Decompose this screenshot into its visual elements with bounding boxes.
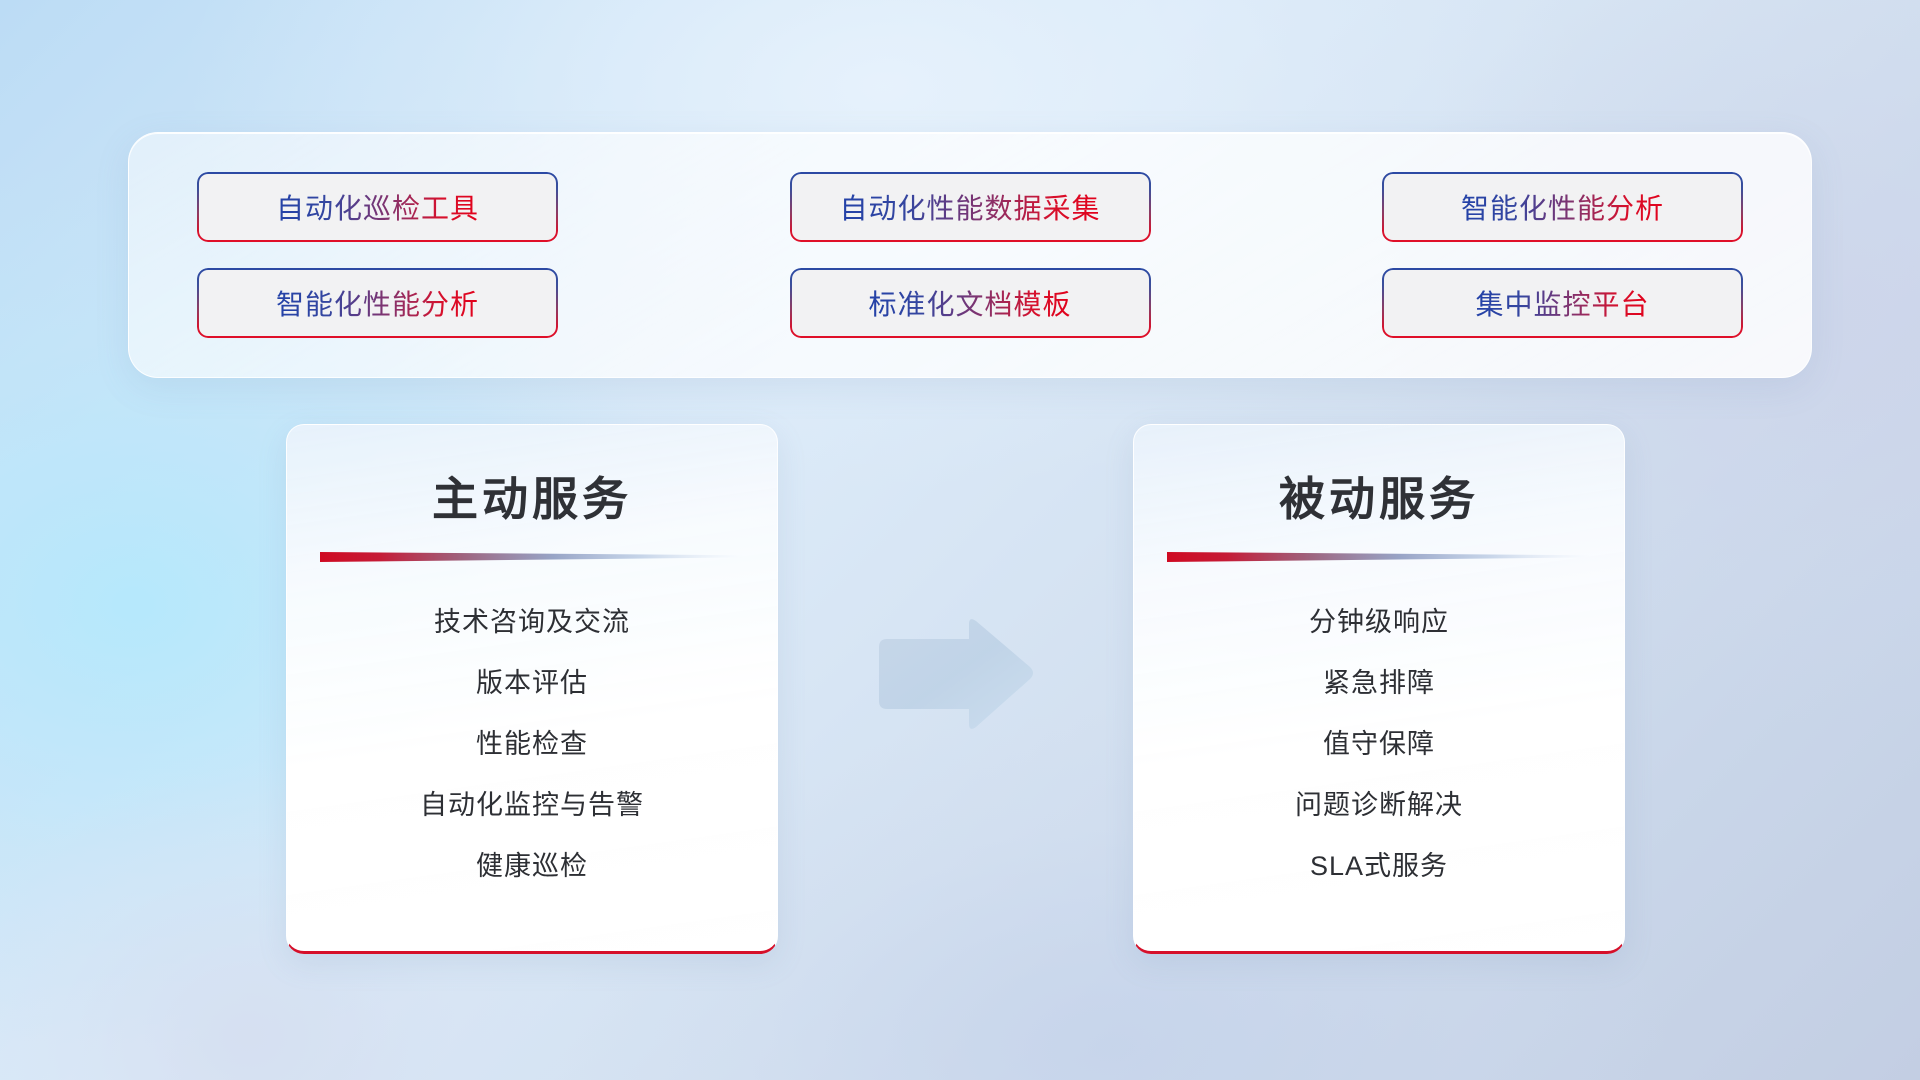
capability-tag-label: 智能化性能分析 xyxy=(1461,187,1664,227)
capability-tag-label: 标准化文档模板 xyxy=(868,283,1071,323)
capability-tag-label: 自动化巡检工具 xyxy=(276,187,479,227)
card-list-item: 问题诊断解决 xyxy=(1134,775,1624,836)
capability-tag-intelligent-performance-analysis-top[interactable]: 智能化性能分析 xyxy=(1384,174,1741,240)
card-title-divider xyxy=(320,551,744,562)
capability-tag-label: 自动化性能数据采集 xyxy=(839,187,1100,227)
capability-tag-automated-performance-data-collection[interactable]: 自动化性能数据采集 xyxy=(792,174,1149,240)
card-list-item: 技术咨询及交流 xyxy=(287,592,777,653)
card-title: 主动服务 xyxy=(287,463,777,529)
arrow-right-icon xyxy=(873,615,1036,735)
card-list-item: 版本评估 xyxy=(287,653,777,714)
card-title: 被动服务 xyxy=(1134,463,1624,529)
capability-tag-label: 智能化性能分析 xyxy=(276,283,479,323)
card-list-item: 性能检查 xyxy=(287,714,777,775)
card-list-item: 健康巡检 xyxy=(287,836,777,897)
card-list-item: 值守保障 xyxy=(1134,714,1624,775)
card-list-item: SLA式服务 xyxy=(1134,836,1624,897)
capability-tag-panel: 自动化巡检工具 自动化性能数据采集 智能化性能分析 智能化性能分析 标准化文档模… xyxy=(128,132,1812,378)
service-card-active[interactable]: 主动服务 技术咨询及交流 版本评估 性能检查 自动化监控与告警 健康巡检 xyxy=(286,424,778,954)
capability-tag-row-1: 自动化巡检工具 自动化性能数据采集 智能化性能分析 xyxy=(199,174,1741,240)
card-item-list: 技术咨询及交流 版本评估 性能检查 自动化监控与告警 健康巡检 xyxy=(287,592,777,897)
capability-tag-centralized-monitoring-platform[interactable]: 集中监控平台 xyxy=(1384,270,1741,336)
capability-tag-automated-inspection-tool[interactable]: 自动化巡检工具 xyxy=(199,174,556,240)
capability-tag-row-2: 智能化性能分析 标准化文档模板 集中监控平台 xyxy=(199,270,1741,336)
card-item-list: 分钟级响应 紧急排障 值守保障 问题诊断解决 SLA式服务 xyxy=(1134,592,1624,897)
service-card-passive[interactable]: 被动服务 分钟级响应 紧急排障 值守保障 问题诊断解决 SLA式服务 xyxy=(1133,424,1625,954)
capability-tag-intelligent-performance-analysis-bottom[interactable]: 智能化性能分析 xyxy=(199,270,556,336)
card-list-item: 分钟级响应 xyxy=(1134,592,1624,653)
capability-tag-standardized-doc-template[interactable]: 标准化文档模板 xyxy=(792,270,1149,336)
card-list-item: 自动化监控与告警 xyxy=(287,775,777,836)
card-title-divider xyxy=(1167,551,1591,562)
card-list-item: 紧急排障 xyxy=(1134,653,1624,714)
capability-tag-label: 集中监控平台 xyxy=(1475,283,1649,323)
